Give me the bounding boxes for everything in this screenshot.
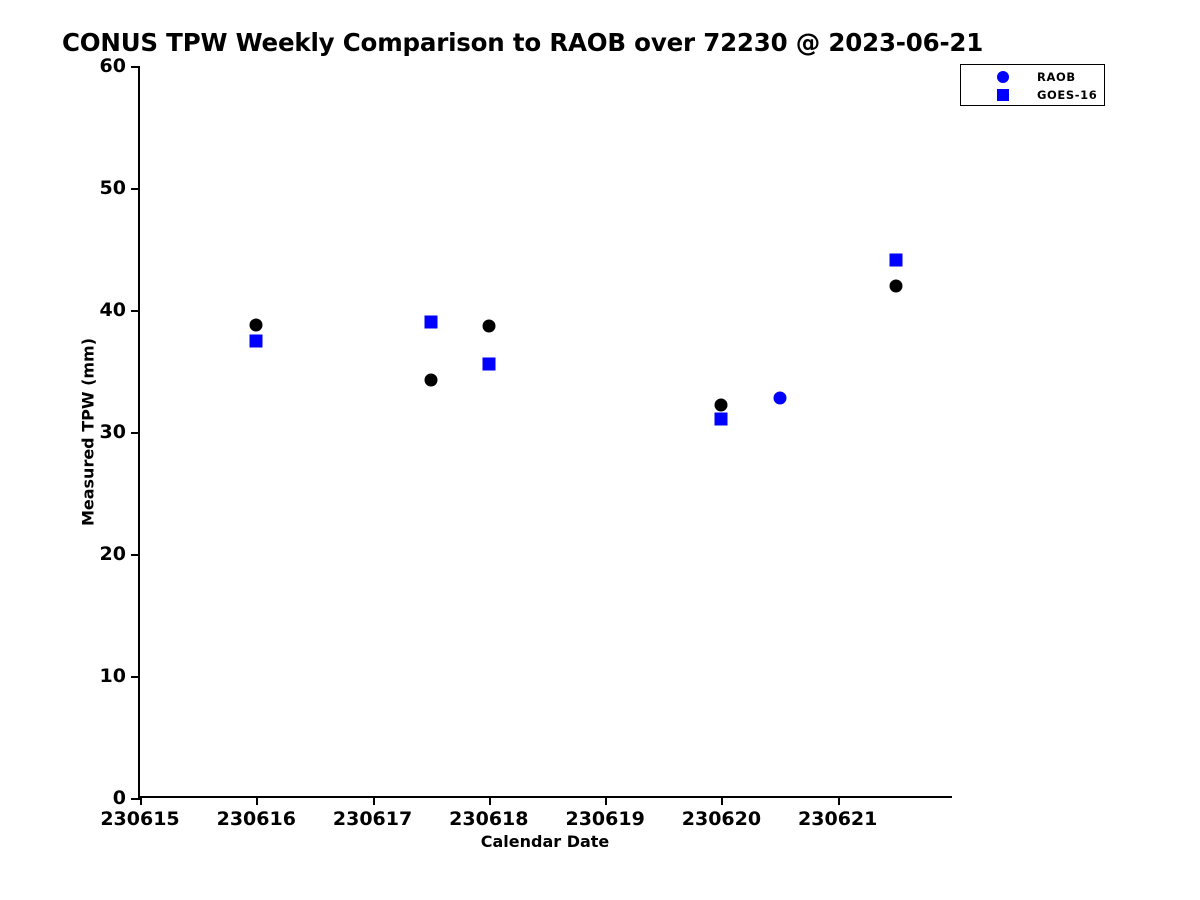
chart-figure: CONUS TPW Weekly Comparison to RAOB over… bbox=[0, 0, 1200, 900]
x-axis-title: Calendar Date bbox=[481, 832, 610, 851]
x-tick-mark bbox=[140, 796, 142, 805]
y-tick-mark bbox=[131, 554, 140, 556]
x-tick-mark bbox=[838, 796, 840, 805]
legend-label-raob: RAOB bbox=[1037, 70, 1076, 84]
x-tick-mark bbox=[373, 796, 375, 805]
x-tick-label: 230620 bbox=[682, 808, 761, 830]
x-tick-mark bbox=[489, 796, 491, 805]
data-point-goes-16 bbox=[482, 357, 495, 370]
y-tick-label: 50 bbox=[100, 177, 126, 199]
legend-label-goes16: GOES-16 bbox=[1037, 88, 1097, 102]
x-tick-mark bbox=[605, 796, 607, 805]
data-point-raob bbox=[715, 399, 728, 412]
x-tick-label: 230615 bbox=[100, 808, 179, 830]
y-tick-label: 60 bbox=[100, 55, 126, 77]
data-point-raob bbox=[889, 279, 902, 292]
x-tick-label: 230616 bbox=[217, 808, 296, 830]
data-point-raob bbox=[482, 319, 495, 332]
y-tick-mark bbox=[131, 798, 140, 800]
data-point-raob bbox=[250, 318, 263, 331]
y-tick-mark bbox=[131, 310, 140, 312]
y-tick-label: 0 bbox=[113, 787, 126, 809]
y-tick-mark bbox=[131, 676, 140, 678]
data-point-goes-16 bbox=[715, 412, 728, 425]
x-tick-mark bbox=[256, 796, 258, 805]
legend-marker-circle-icon bbox=[997, 71, 1009, 83]
legend-marker-square-icon bbox=[997, 89, 1009, 101]
data-point-goes-16 bbox=[250, 334, 263, 347]
y-tick-label: 20 bbox=[100, 543, 126, 565]
data-point-goes-16 bbox=[424, 316, 437, 329]
legend-entry-goes16: GOES-16 bbox=[961, 85, 1104, 104]
data-point-raob bbox=[424, 373, 437, 386]
y-tick-mark bbox=[131, 188, 140, 190]
x-tick-label: 230619 bbox=[565, 808, 644, 830]
legend-entry-raob: RAOB bbox=[961, 67, 1104, 86]
chart-legend: RAOB GOES-16 bbox=[960, 64, 1105, 106]
x-tick-label: 230617 bbox=[333, 808, 412, 830]
data-point-goes-16 bbox=[889, 253, 902, 266]
x-tick-label: 230621 bbox=[798, 808, 877, 830]
y-tick-label: 40 bbox=[100, 299, 126, 321]
y-tick-mark bbox=[131, 66, 140, 68]
x-tick-label: 230618 bbox=[449, 808, 528, 830]
x-tick-mark bbox=[721, 796, 723, 805]
chart-title: CONUS TPW Weekly Comparison to RAOB over… bbox=[62, 28, 983, 57]
data-point-raob bbox=[773, 391, 786, 404]
plot-area: 0102030405060 23061523061623061723061823… bbox=[138, 66, 952, 798]
y-axis-title: Measured TPW (mm) bbox=[79, 338, 98, 526]
y-tick-label: 10 bbox=[100, 665, 126, 687]
y-tick-mark bbox=[131, 432, 140, 434]
y-tick-label: 30 bbox=[100, 421, 126, 443]
